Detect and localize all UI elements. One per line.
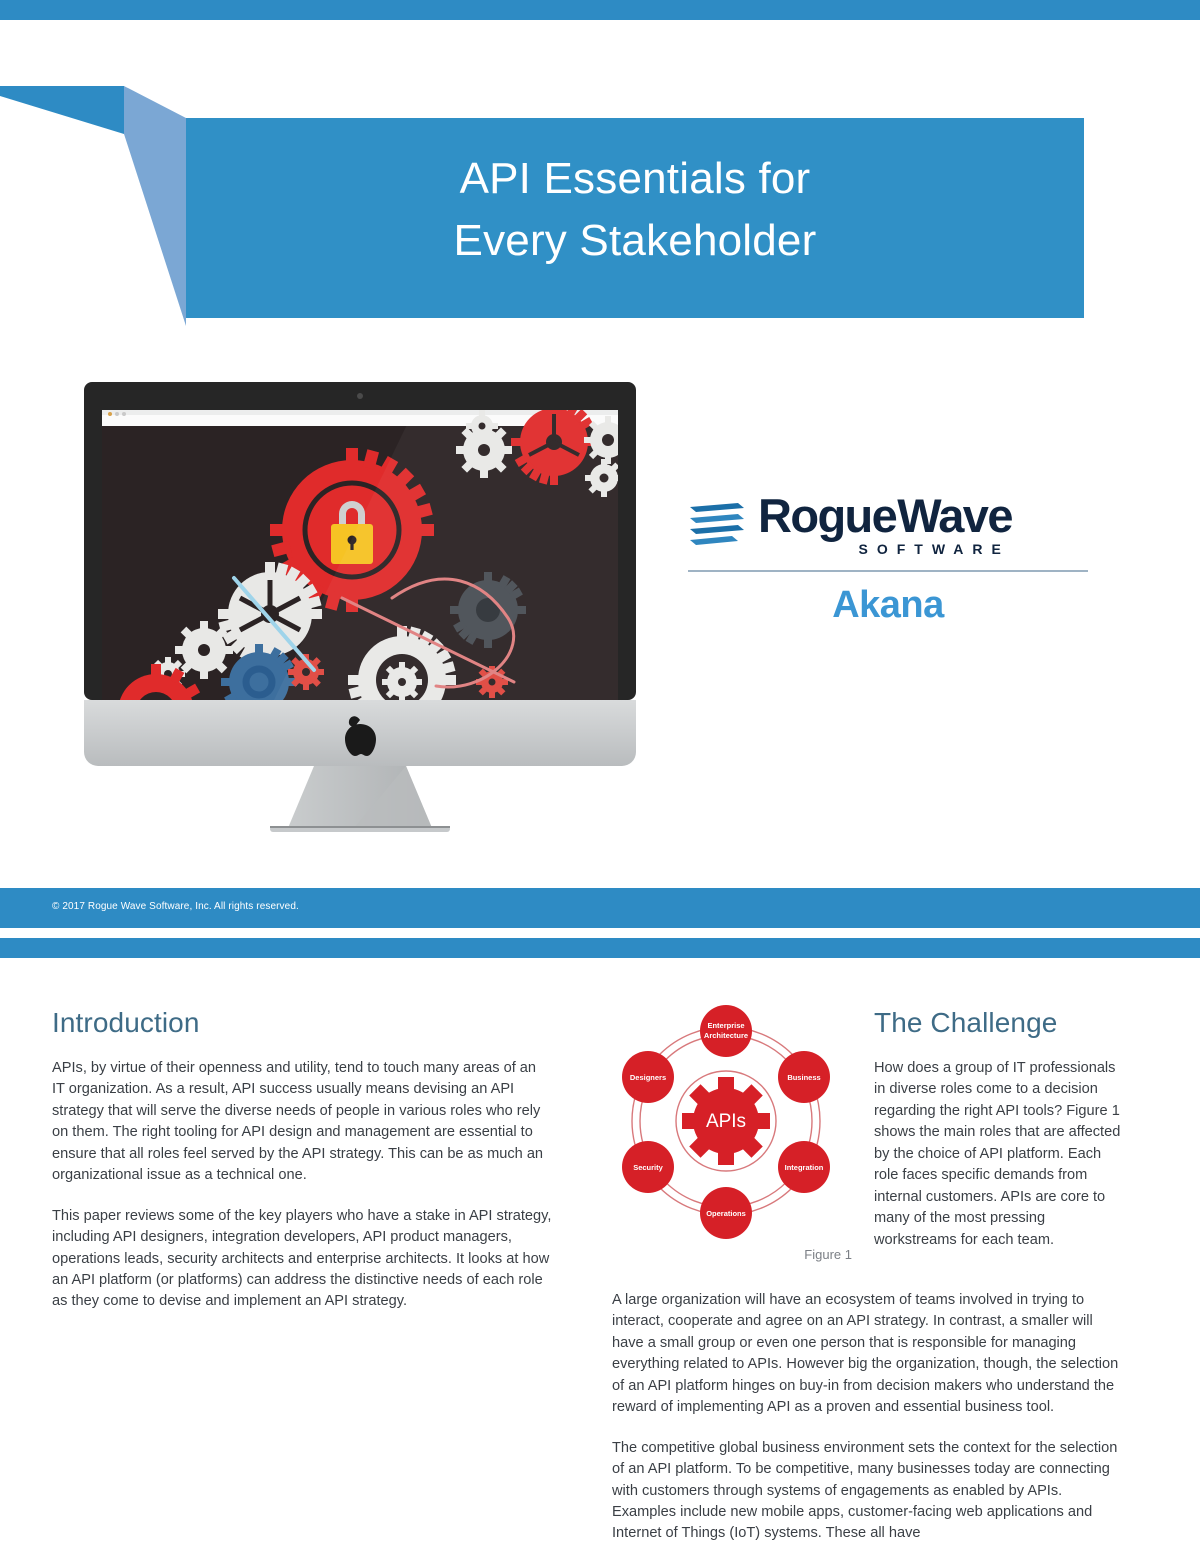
center-gear-icon: APIs xyxy=(682,1077,770,1165)
challenge-paragraph-1: How does a group of IT professionals in … xyxy=(874,1058,1126,1251)
top-accent-bar xyxy=(0,0,1200,20)
brand-logo: RogueWave SOFTWARE Akana xyxy=(688,492,1088,627)
imac-illustration xyxy=(84,382,636,832)
brand-word-wave: Wave xyxy=(897,489,1012,542)
introduction-paragraph-2: This paper reviews some of the key playe… xyxy=(52,1206,552,1313)
copyright-text: © 2017 Rogue Wave Software, Inc. All rig… xyxy=(52,901,299,912)
role-node-designers: Designers xyxy=(622,1051,674,1103)
introduction-column: Introduction APIs, by virtue of their op… xyxy=(52,1007,552,1332)
figure-column: APIs Enterprise Architecture Business In… xyxy=(604,1005,860,1262)
cover-footer-bar: © 2017 Rogue Wave Software, Inc. All rig… xyxy=(0,888,1200,928)
logo-divider xyxy=(688,570,1088,572)
wide-paragraph-2: The competitive global business environm… xyxy=(612,1438,1128,1545)
svg-text:Operations: Operations xyxy=(706,1209,746,1218)
figure-caption: Figure 1 xyxy=(604,1247,860,1262)
hero-banner: API Essentials for Every Stakeholder xyxy=(186,118,1084,318)
content-page: Introduction APIs, by virtue of their op… xyxy=(0,935,1200,1555)
wide-text-block: A large organization will have an ecosys… xyxy=(612,1290,1128,1555)
introduction-heading: Introduction xyxy=(52,1007,552,1039)
wide-paragraph-1: A large organization will have an ecosys… xyxy=(612,1290,1128,1419)
page-title: API Essentials for Every Stakeholder xyxy=(186,148,1084,273)
document-page: API Essentials for Every Stakeholder xyxy=(0,0,1200,1555)
svg-text:Architecture: Architecture xyxy=(704,1031,748,1040)
brand-tagline: SOFTWARE xyxy=(758,541,1012,557)
svg-text:Designers: Designers xyxy=(630,1073,666,1082)
product-name-akana: Akana xyxy=(688,584,1088,627)
roguewave-mark-icon xyxy=(688,499,746,551)
role-node-business: Business xyxy=(778,1051,830,1103)
ribbon-fold-decoration xyxy=(0,86,200,326)
challenge-column: The Challenge How does a group of IT pro… xyxy=(874,1007,1126,1270)
introduction-paragraph-1: APIs, by virtue of their openness and ut… xyxy=(52,1058,552,1187)
role-node-integration: Integration xyxy=(778,1141,830,1193)
svg-text:Enterprise: Enterprise xyxy=(707,1021,744,1030)
brand-word-rogue: Rogue xyxy=(758,489,896,542)
api-roles-diagram: APIs Enterprise Architecture Business In… xyxy=(604,1005,848,1243)
challenge-heading: The Challenge xyxy=(874,1007,1126,1039)
role-node-enterprise-architecture: Enterprise Architecture xyxy=(700,1005,752,1057)
role-node-security: Security xyxy=(622,1141,674,1193)
cover-page: API Essentials for Every Stakeholder xyxy=(0,0,1200,932)
brand-wordmark: RogueWave xyxy=(758,492,1012,539)
svg-text:Security: Security xyxy=(633,1163,663,1172)
role-node-operations: Operations xyxy=(700,1187,752,1239)
center-label: APIs xyxy=(706,1111,746,1132)
svg-text:Integration: Integration xyxy=(785,1163,824,1172)
svg-text:Business: Business xyxy=(787,1073,820,1082)
page2-accent-bar xyxy=(0,938,1200,958)
